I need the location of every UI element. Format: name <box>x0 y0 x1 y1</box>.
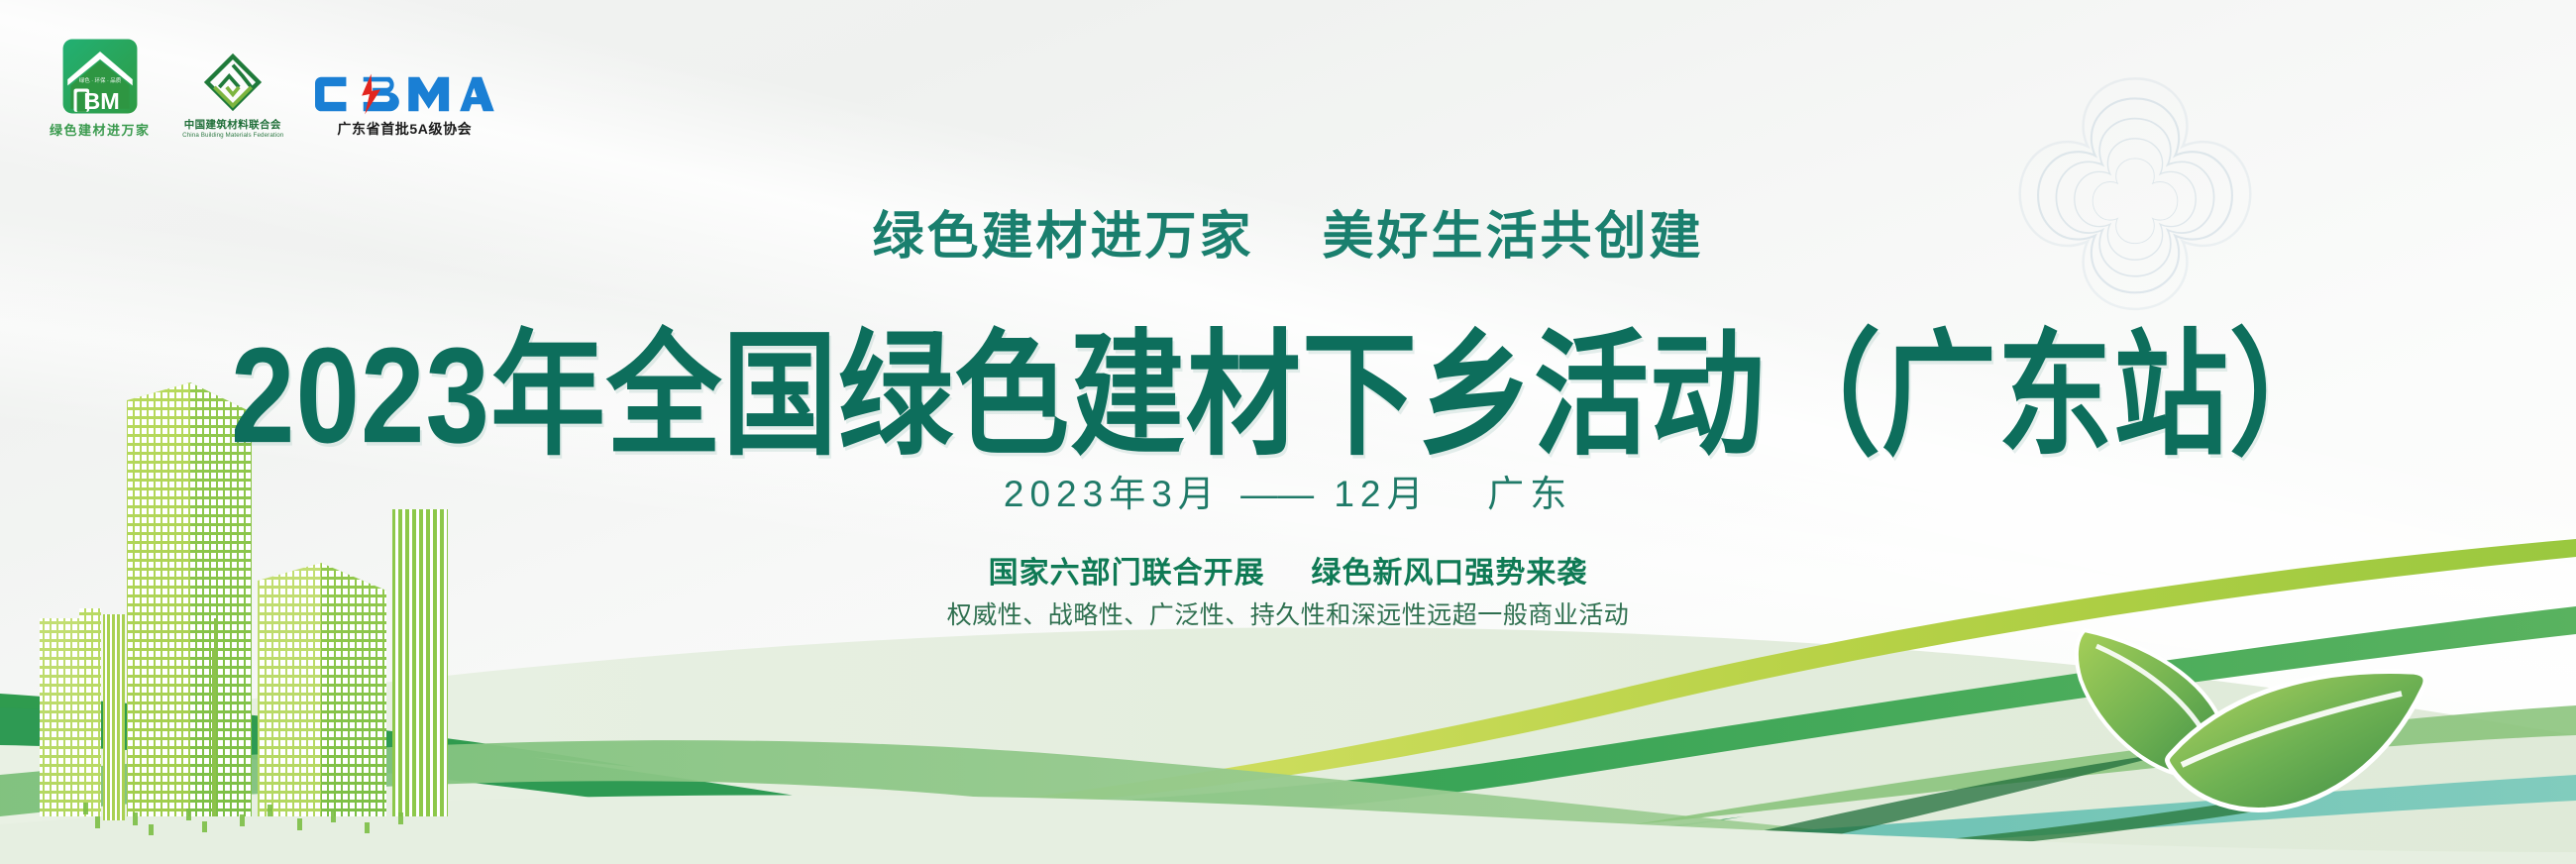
event-date-location: 2023年3月 —— 12月 广东 <box>0 464 2576 517</box>
page-title: 2023年全国绿色建材下乡活动（广东站） <box>0 285 2576 482</box>
event-date-end: 12月 <box>1334 474 1429 514</box>
tagline-right: 绿色新风口强势来袭 <box>1311 557 1587 590</box>
logo-gbm[interactable]: 绿色 · 环保 · 品质 BM 绿色建材进万家 <box>50 38 151 139</box>
partner-logo-row: 绿色 · 环保 · 品质 BM 绿色建材进万家 中国建筑材料联合会 <box>50 38 494 139</box>
event-date-start: 2023年3月 <box>1004 474 1221 514</box>
event-date-dash: —— <box>1236 474 1318 514</box>
promotional-banner: 绿色 · 环保 · 品质 BM 绿色建材进万家 中国建筑材料联合会 <box>0 0 2576 864</box>
logo-cbma-caption: 广东省首批5A级协会 <box>337 119 472 139</box>
banner-subtitle: 绿色建材进万家 美好生活共创建 <box>0 194 2576 269</box>
event-location: 广东 <box>1487 474 1572 514</box>
svg-text:BM: BM <box>83 88 119 114</box>
tagline-left: 国家六部门联合开展 <box>989 557 1265 590</box>
china-building-materials-federation-diamond-icon <box>202 52 264 113</box>
green-building-material-house-icon: 绿色 · 环保 · 品质 BM <box>61 38 139 115</box>
logo-cbma[interactable]: 广东省首批5A级协会 <box>315 72 494 139</box>
two-green-leaves-icon <box>2041 594 2507 842</box>
logo-cbmf-caption-cn: 中国建筑材料联合会 <box>184 117 281 132</box>
subtitle-right: 美好生活共创建 <box>1322 208 1703 266</box>
logo-cbmf-caption-en: China Building Materials Federation <box>182 132 283 139</box>
logo-gbm-caption: 绿色建材进万家 <box>50 120 151 139</box>
logo-cbmf[interactable]: 中国建筑材料联合会 China Building Materials Feder… <box>180 52 285 139</box>
subtitle-left: 绿色建材进万家 <box>873 208 1254 266</box>
promo-note: 权威性、战略性、广泛性、持久性和深远性远超一般商业活动 <box>0 595 2576 631</box>
gbma-wordmark-icon <box>315 72 494 116</box>
promo-tagline: 国家六部门联合开展 绿色新风口强势来袭 <box>0 548 2576 592</box>
